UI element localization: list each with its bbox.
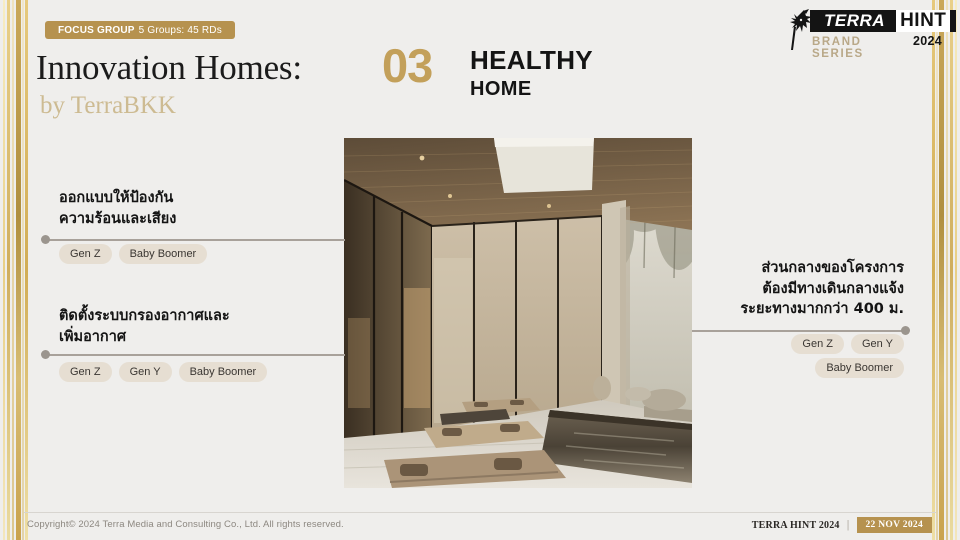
terra-hint-logo: TERRA HINT BRAND SERIES 2024 (782, 8, 942, 54)
interior-courtyard-illustration (344, 138, 692, 488)
focus-group-value: 5 Groups: 45 RDs (139, 25, 222, 36)
logo-hint-text: HINT (896, 10, 950, 32)
annotation-right-1: ส่วนกลางของโครงการ ต้องมีทางเดินกลางแจ้ง… (740, 258, 904, 320)
connector-dot-2 (41, 350, 50, 359)
logo-year: 2024 (913, 34, 942, 48)
annotation-left-2-line1: ติดตั้งระบบกรองอากาศและ (59, 306, 230, 327)
focus-group-badge: FOCUS GROUP 5 Groups: 45 RDs (45, 21, 235, 39)
connector-dot-1 (41, 235, 50, 244)
annotation-left-2-line2: เพิ่มอากาศ (59, 327, 230, 348)
tag-baby-boomer[interactable]: Baby Boomer (119, 244, 208, 264)
logo-subtitle: BRAND SERIES 2024 (812, 34, 942, 60)
section-title-bottom: HOME (470, 79, 532, 99)
focus-group-label: FOCUS GROUP (58, 25, 135, 36)
annotation-right-1-line3: ระยะทางมากกว่า 400 ม. (740, 299, 904, 320)
tag-baby-boomer[interactable]: Baby Boomer (179, 362, 268, 382)
connector-line-3 (692, 330, 905, 332)
footer-copyright: Copyright© 2024 Terra Media and Consulti… (27, 519, 344, 530)
tag-gen-y[interactable]: Gen Y (119, 362, 172, 382)
tag-baby-boomer[interactable]: Baby Boomer (815, 358, 904, 378)
page-title: Innovation Homes: (36, 48, 302, 88)
tag-gen-z[interactable]: Gen Z (59, 244, 112, 264)
annotation-left-2-tags: Gen Z Gen Y Baby Boomer (59, 362, 267, 382)
annotation-right-1-line2: ต้องมีทางเดินกลางแจ้ง (740, 279, 904, 300)
connector-line-2 (45, 354, 345, 356)
logo-hint: HINT (890, 10, 956, 32)
section-number: 03 (382, 42, 432, 89)
footer-date-badge: 22 NOV 2024 (857, 517, 933, 533)
logo-brand-series: BRAND SERIES (812, 36, 909, 60)
footer-brand: TERRA HINT 2024 (752, 520, 840, 531)
annotation-left-1-line1: ออกแบบให้ป้องกัน (59, 188, 176, 209)
tag-gen-z[interactable]: Gen Z (59, 362, 112, 382)
annotation-left-1-line2: ความร้อนและเสียง (59, 209, 176, 230)
logo-wordmark: TERRA HINT (810, 10, 956, 32)
left-gold-border (0, 0, 34, 540)
annotation-left-1-text: ออกแบบให้ป้องกัน ความร้อนและเสียง (59, 188, 176, 229)
annotation-right-1-tags-row1: Gen Z Gen Y (791, 334, 904, 354)
healthy-home-photo (344, 138, 692, 488)
page-subtitle: by TerraBKK (40, 92, 176, 120)
footer-brand-block: TERRA HINT 2024 | 22 NOV 2024 (752, 517, 932, 533)
tag-gen-y[interactable]: Gen Y (851, 334, 904, 354)
footer-separator: | (847, 519, 850, 531)
annotation-right-1-text: ส่วนกลางของโครงการ ต้องมีทางเดินกลางแจ้ง… (740, 258, 904, 320)
annotation-left-1-tags: Gen Z Baby Boomer (59, 244, 207, 264)
logo-terra: TERRA (810, 10, 890, 32)
footer-divider (24, 512, 936, 513)
annotation-right-1-line1: ส่วนกลางของโครงการ (740, 258, 904, 279)
slide-root: FOCUS GROUP 5 Groups: 45 RDs Innovation … (0, 0, 960, 540)
annotation-left-2-text: ติดตั้งระบบกรองอากาศและ เพิ่มอากาศ (59, 306, 230, 347)
right-gold-border (926, 0, 960, 540)
annotation-right-1-tags-row2: Baby Boomer (815, 358, 904, 378)
connector-line-1 (45, 239, 345, 241)
section-title-top: HEALTHY (470, 47, 593, 73)
tag-gen-z[interactable]: Gen Z (791, 334, 844, 354)
annotation-left-2: ติดตั้งระบบกรองอากาศและ เพิ่มอากาศ (59, 306, 230, 347)
annotation-left-1: ออกแบบให้ป้องกัน ความร้อนและเสียง (59, 188, 176, 229)
